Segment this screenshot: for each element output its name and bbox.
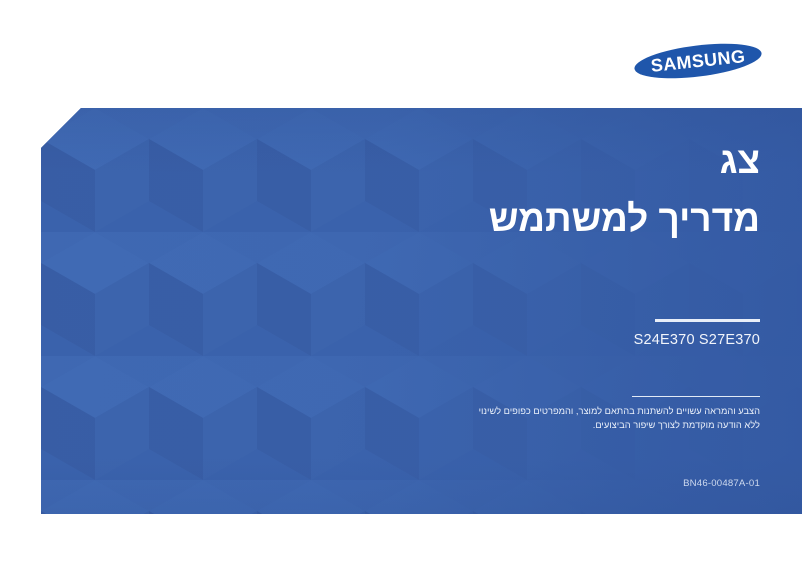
- document-code: BN46-00487A-01: [683, 478, 760, 489]
- page-title-manual: מדריך למשתמש: [489, 200, 760, 237]
- disclaimer-note: הצבע והמראה עשויים להשתנות בהתאם למוצר, …: [460, 404, 760, 433]
- disclaimer-line-1: הצבע והמראה עשויים להשתנות בהתאם למוצר, …: [460, 404, 760, 418]
- cover-content: צג מדריך למשתמש S24E370 S27E370 הצבע והמ…: [41, 108, 802, 514]
- disclaimer-line-2: ללא הודעה מוקדמת לצורך שיפור הביצועים.: [460, 418, 760, 432]
- model-numbers: S24E370 S27E370: [634, 332, 760, 348]
- cover-panel: צג מדריך למשתמש S24E370 S27E370 הצבע והמ…: [41, 108, 802, 514]
- note-divider: [632, 396, 760, 397]
- samsung-logo: SAMSUNG: [632, 41, 764, 81]
- models-divider: [655, 319, 760, 322]
- cover-title-block: צג מדריך למשתמש: [489, 142, 760, 237]
- page-title-product: צג: [489, 142, 760, 179]
- manual-cover-page: SAMSUNG: [0, 0, 802, 567]
